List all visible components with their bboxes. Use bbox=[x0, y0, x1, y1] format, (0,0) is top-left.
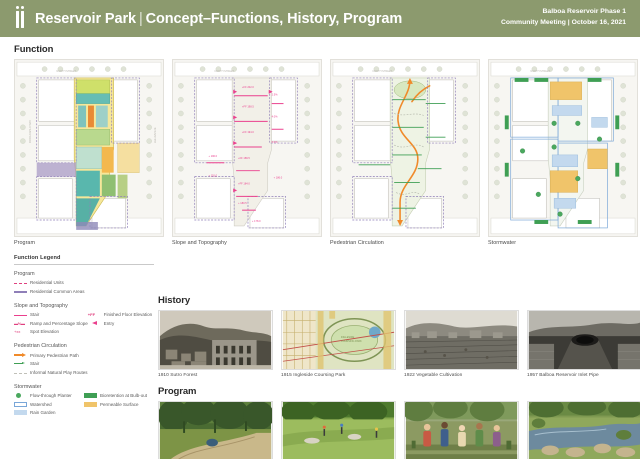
svg-text:4.0%: 4.0% bbox=[272, 114, 279, 118]
history-caption: 1957 Balboa Reservoir Inlet Pipe bbox=[527, 373, 640, 378]
legend-label: Residential Common Areas bbox=[30, 289, 85, 294]
history-photo-ingleside-coursing-park[interactable]: INGLESIDE COURSING PARK bbox=[281, 310, 396, 370]
title-main: Reservoir Park bbox=[35, 11, 136, 27]
plan-cell-slope[interactable]: +FF 202.0 +FF 198.5 +FF 194.0 +FF 189.5 … bbox=[172, 59, 322, 246]
permeable-surface-swatch-icon bbox=[84, 402, 97, 407]
legend-group-pedestrian-circulation: Pedestrian Circulation Primary Pedestria… bbox=[14, 343, 154, 378]
plan-cell-stormwater[interactable]: NORTH STREET Stormwater bbox=[488, 59, 638, 246]
svg-text:5.0%: 5.0% bbox=[272, 140, 279, 144]
residential-common-areas-swatch-icon bbox=[14, 291, 27, 293]
legend-label: Finished Floor Elevation bbox=[104, 312, 152, 317]
header-meeting-date: Community Meeting | October 16, 2021 bbox=[501, 17, 626, 28]
plan-image-slope[interactable]: +FF 202.0 +FF 198.5 +FF 194.0 +FF 189.5 … bbox=[172, 59, 322, 237]
program-photo-nature-retreat[interactable] bbox=[158, 401, 273, 459]
legend-item-residential-common-areas[interactable]: Residential Common Areas bbox=[14, 288, 154, 294]
flow-through-planter-swatch-icon bbox=[14, 393, 27, 398]
legend-label: Spot Elevation bbox=[30, 329, 59, 334]
legend-label: Stair bbox=[30, 312, 39, 317]
legend-group-title: Program bbox=[14, 271, 154, 277]
legend-group-stormwater: Stormwater Flow-through Planter Watershe… bbox=[14, 384, 154, 419]
legend-label: Bioretention at Bulb-out bbox=[100, 393, 147, 398]
bioretention-swatch-icon bbox=[84, 393, 97, 398]
legend-label: Primary Pedestrian Path bbox=[30, 353, 79, 358]
function-plan-row: NORTH STREET LEE AVENUE FRIDA KAHLO WAY … bbox=[14, 59, 626, 246]
legend-label: Watershed bbox=[30, 402, 52, 407]
header-meta: Balboa Reservoir Phase 1 Community Meeti… bbox=[501, 6, 626, 28]
stair-swatch-icon bbox=[14, 315, 27, 316]
legend-item-spot-elevation[interactable]: +xx Spot Elevation bbox=[14, 329, 88, 335]
legend-label: Ramp and Percentage Slope bbox=[30, 321, 88, 326]
svg-text:+ 180.5: + 180.5 bbox=[238, 201, 247, 205]
svg-text:COURSING PARK: COURSING PARK bbox=[341, 340, 362, 343]
legend-label: Entry bbox=[104, 321, 115, 326]
history-caption: 1922 Vegetable Cultivation bbox=[404, 373, 519, 378]
svg-text:+FF 194.0: +FF 194.0 bbox=[242, 130, 254, 134]
history-cell-vegetable-cultivation[interactable]: 1922 Vegetable Cultivation bbox=[404, 310, 519, 378]
history-cell-ingleside-coursing-park[interactable]: INGLESIDE COURSING PARK 1915 Ingleside C… bbox=[281, 310, 396, 378]
legend-group-title: Stormwater bbox=[14, 384, 154, 390]
plan-caption-pedestrian: Pedestrian Circulation bbox=[330, 240, 480, 246]
legend-label: Informal Natural Play Routes bbox=[30, 370, 88, 375]
legend-item-finished-floor-elevation[interactable]: +FF Finished Floor Elevation bbox=[88, 312, 154, 318]
legend-label: Stair bbox=[30, 361, 39, 366]
program-cell-stormwater-management[interactable]: Stormwater Management bbox=[527, 401, 640, 459]
program-photo-stormwater-management[interactable] bbox=[527, 401, 640, 459]
svg-text:+ 178.0: + 178.0 bbox=[252, 219, 261, 223]
stair-arrow-icon bbox=[14, 361, 27, 366]
legend-item-flow-through-planter[interactable]: Flow-through Planter bbox=[14, 393, 84, 399]
informal-play-routes-swatch-icon bbox=[14, 373, 27, 374]
legend-item-bioretention-bulb-out[interactable]: Bioretention at Bulb-out bbox=[84, 393, 154, 399]
section-title-function: Function bbox=[14, 44, 626, 55]
title-sub: Concept–Functions, History, Program bbox=[146, 11, 402, 27]
legend-item-rain-garden[interactable]: Rain Garden bbox=[14, 410, 84, 416]
watershed-swatch-icon bbox=[14, 402, 27, 407]
rain-garden-swatch-icon bbox=[14, 410, 27, 415]
legend-label: Rain Garden bbox=[30, 410, 56, 415]
history-cell-balboa-inlet-pipe[interactable]: 1957 Balboa Reservoir Inlet Pipe bbox=[527, 310, 640, 378]
svg-text:LEE AVENUE: LEE AVENUE bbox=[153, 127, 157, 143]
title-separator: | bbox=[136, 11, 146, 27]
spot-elevation-swatch-icon: +xx bbox=[14, 329, 27, 334]
svg-text:INGLESIDE: INGLESIDE bbox=[341, 336, 355, 339]
svg-text:+FF 189.5: +FF 189.5 bbox=[238, 156, 250, 160]
svg-text:FRIDA KAHLO WAY: FRIDA KAHLO WAY bbox=[28, 120, 32, 143]
program-cell-nature-retreat[interactable]: Nature Retreat bbox=[158, 401, 273, 459]
history-photo-sutro-forest[interactable] bbox=[158, 310, 273, 370]
section-title-history: History bbox=[158, 295, 626, 306]
svg-text:+ 191.0: + 191.0 bbox=[209, 174, 218, 178]
legend-item-primary-pedestrian-path[interactable]: Primary Pedestrian Path bbox=[14, 352, 154, 358]
program-photo-multiuse-lawn[interactable] bbox=[281, 401, 396, 459]
program-photo-row: Nature Retreat bbox=[158, 401, 626, 459]
plan-cell-pedestrian[interactable]: NORTH STREET Pedestrian Circulation bbox=[330, 59, 480, 246]
legend-item-ramp-slope[interactable]: ▬%▬ Ramp and Percentage Slope bbox=[14, 320, 88, 326]
entry-swatch-icon bbox=[88, 321, 101, 326]
history-photo-vegetable-cultivation[interactable] bbox=[404, 310, 519, 370]
finished-floor-elevation-swatch-icon: +FF bbox=[88, 312, 101, 317]
svg-text:+ 186.0: + 186.0 bbox=[274, 176, 283, 180]
legend-item-watershed[interactable]: Watershed bbox=[14, 401, 84, 407]
plan-caption-stormwater: Stormwater bbox=[488, 240, 638, 246]
page-header: Reservoir Park|Concept–Functions, Histor… bbox=[0, 0, 640, 37]
program-photo-community-garden[interactable] bbox=[404, 401, 519, 459]
section-title-program: Program bbox=[158, 386, 626, 397]
program-cell-multiuse-lawn[interactable]: Multiuse Lawn and Play Area bbox=[281, 401, 396, 459]
program-cell-community-garden[interactable]: Community Garden bbox=[404, 401, 519, 459]
legend-item-permeable-surface[interactable]: Permeable Surface bbox=[84, 401, 154, 407]
legend-item-stair-circulation[interactable]: Stair bbox=[14, 361, 154, 367]
ii-logo-icon bbox=[16, 10, 24, 28]
legend-title: Function Legend bbox=[14, 255, 154, 265]
function-legend: Function Legend Program Residential Unit… bbox=[14, 255, 154, 418]
residential-units-swatch-icon bbox=[14, 283, 27, 284]
plan-cell-program[interactable]: NORTH STREET LEE AVENUE FRIDA KAHLO WAY … bbox=[14, 59, 164, 246]
svg-text:NORTH STREET: NORTH STREET bbox=[530, 69, 550, 73]
legend-item-informal-natural-play-routes[interactable]: Informal Natural Play Routes bbox=[14, 369, 154, 375]
history-photo-balboa-inlet-pipe[interactable] bbox=[527, 310, 640, 370]
plan-image-pedestrian[interactable]: NORTH STREET bbox=[330, 59, 480, 237]
sheet-canvas: Function bbox=[0, 37, 640, 459]
plan-caption-program: Program bbox=[14, 240, 164, 246]
history-photo-row: 1910 Sutro Forest bbox=[158, 310, 626, 378]
legend-group-title: Slope and Topography bbox=[14, 303, 154, 309]
history-program-column: History bbox=[158, 295, 626, 459]
legend-label: Residential Units bbox=[30, 280, 64, 285]
svg-text:+FF 198.5: +FF 198.5 bbox=[242, 105, 254, 109]
svg-text:+FF 184.0: +FF 184.0 bbox=[238, 182, 250, 186]
plan-caption-slope: Slope and Topography bbox=[172, 240, 322, 246]
legend-item-residential-units[interactable]: Residential Units bbox=[14, 280, 154, 286]
legend-item-entry[interactable]: Entry bbox=[88, 320, 154, 326]
svg-text:+ 196.0: + 196.0 bbox=[209, 154, 218, 158]
svg-text:2.5%: 2.5% bbox=[272, 93, 279, 97]
legend-label: Permeable Surface bbox=[100, 402, 139, 407]
header-project-name: Balboa Reservoir Phase 1 bbox=[501, 6, 626, 17]
legend-group-title: Pedestrian Circulation bbox=[14, 343, 154, 349]
history-caption: 1915 Ingleside Coursing Park bbox=[281, 373, 396, 378]
svg-text:NORTH STREET: NORTH STREET bbox=[372, 69, 392, 73]
history-caption: 1910 Sutro Forest bbox=[158, 373, 273, 378]
svg-text:NORTH STREET: NORTH STREET bbox=[214, 69, 234, 73]
page-title: Reservoir Park|Concept–Functions, Histor… bbox=[35, 11, 402, 27]
legend-group-slope-topography: Slope and Topography Stair ▬%▬ Ramp and … bbox=[14, 303, 154, 338]
plan-image-stormwater[interactable]: NORTH STREET bbox=[488, 59, 638, 237]
plan-image-program[interactable]: NORTH STREET LEE AVENUE FRIDA KAHLO WAY bbox=[14, 59, 164, 237]
legend-label: Flow-through Planter bbox=[30, 393, 72, 398]
legend-item-stair[interactable]: Stair bbox=[14, 312, 88, 318]
svg-text:NORTH STREET: NORTH STREET bbox=[56, 69, 76, 73]
legend-group-program: Program Residential Units Residential Co… bbox=[14, 271, 154, 297]
history-cell-sutro-forest[interactable]: 1910 Sutro Forest bbox=[158, 310, 273, 378]
ramp-slope-swatch-icon: ▬%▬ bbox=[14, 321, 27, 326]
svg-text:+FF 202.0: +FF 202.0 bbox=[242, 85, 254, 89]
primary-pedestrian-path-arrow-icon bbox=[14, 353, 27, 358]
